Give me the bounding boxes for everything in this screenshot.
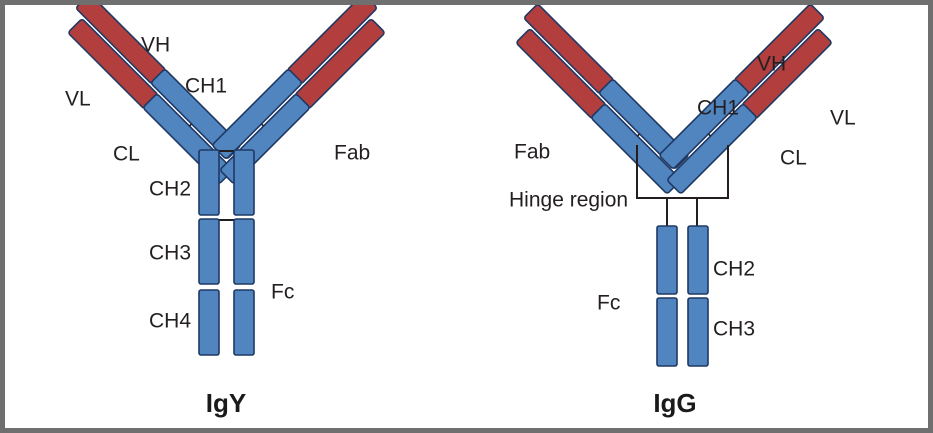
igy-label-ch4: CH4 bbox=[149, 310, 191, 333]
igg-label-fab: Fab bbox=[514, 141, 550, 164]
igg-label-fc: Fc bbox=[597, 292, 620, 315]
igg-ch2-right-bar bbox=[688, 226, 708, 294]
igy-label-ch2: CH2 bbox=[149, 178, 191, 201]
igy-ch4-left-bar bbox=[199, 290, 219, 355]
igg-label-vh: VH bbox=[757, 53, 786, 76]
igy-label-vl: VL bbox=[65, 88, 91, 111]
igg-label-cl: CL bbox=[780, 147, 807, 170]
igg-ch3-left-bar bbox=[657, 298, 677, 366]
igy-ch2-right-bar bbox=[234, 150, 254, 215]
igg-label-ch1: CH1 bbox=[697, 97, 739, 120]
igg-ch3-right-bar bbox=[688, 298, 708, 366]
igg-label-hinge-region: Hinge region bbox=[509, 189, 628, 212]
igy-title: IgY bbox=[206, 388, 246, 418]
igy-ch3-right-bar bbox=[234, 219, 254, 284]
figure-panel: VH VL CH1 CL CH2 CH3 CH4 Fab Fc IgY bbox=[0, 0, 933, 433]
igy-label-fc: Fc bbox=[271, 281, 294, 304]
igy-label-vh: VH bbox=[141, 34, 170, 57]
igy-label-fab: Fab bbox=[334, 142, 370, 165]
igg-left-disulfide-line bbox=[637, 134, 639, 136]
antibody-structure-diagram: VH VL CH1 CL CH2 CH3 CH4 Fab Fc IgY bbox=[5, 5, 928, 428]
igy-ch2-left-bar bbox=[199, 150, 219, 215]
igy-left-disulfide-line bbox=[189, 124, 191, 126]
igg-label-vl: VL bbox=[830, 107, 856, 130]
igg-panel: VH CH1 VL CL Fab Hinge region CH2 CH3 Fc… bbox=[507, 5, 855, 418]
igg-title: IgG bbox=[653, 388, 696, 418]
igg-ch2-left-bar bbox=[657, 226, 677, 294]
igy-ch4-right-bar bbox=[234, 290, 254, 355]
igy-label-ch1: CH1 bbox=[185, 75, 227, 98]
igy-label-cl: CL bbox=[113, 143, 140, 166]
igy-label-ch3: CH3 bbox=[149, 242, 191, 265]
igy-panel: VH VL CH1 CL CH2 CH3 CH4 Fab Fc IgY bbox=[59, 5, 393, 418]
igy-right-disulfide-line bbox=[261, 124, 263, 126]
igy-ch3-left-bar bbox=[199, 219, 219, 284]
igg-label-ch2: CH2 bbox=[713, 258, 755, 281]
igg-right-disulfide-line bbox=[708, 134, 710, 136]
igg-label-ch3: CH3 bbox=[713, 318, 755, 341]
